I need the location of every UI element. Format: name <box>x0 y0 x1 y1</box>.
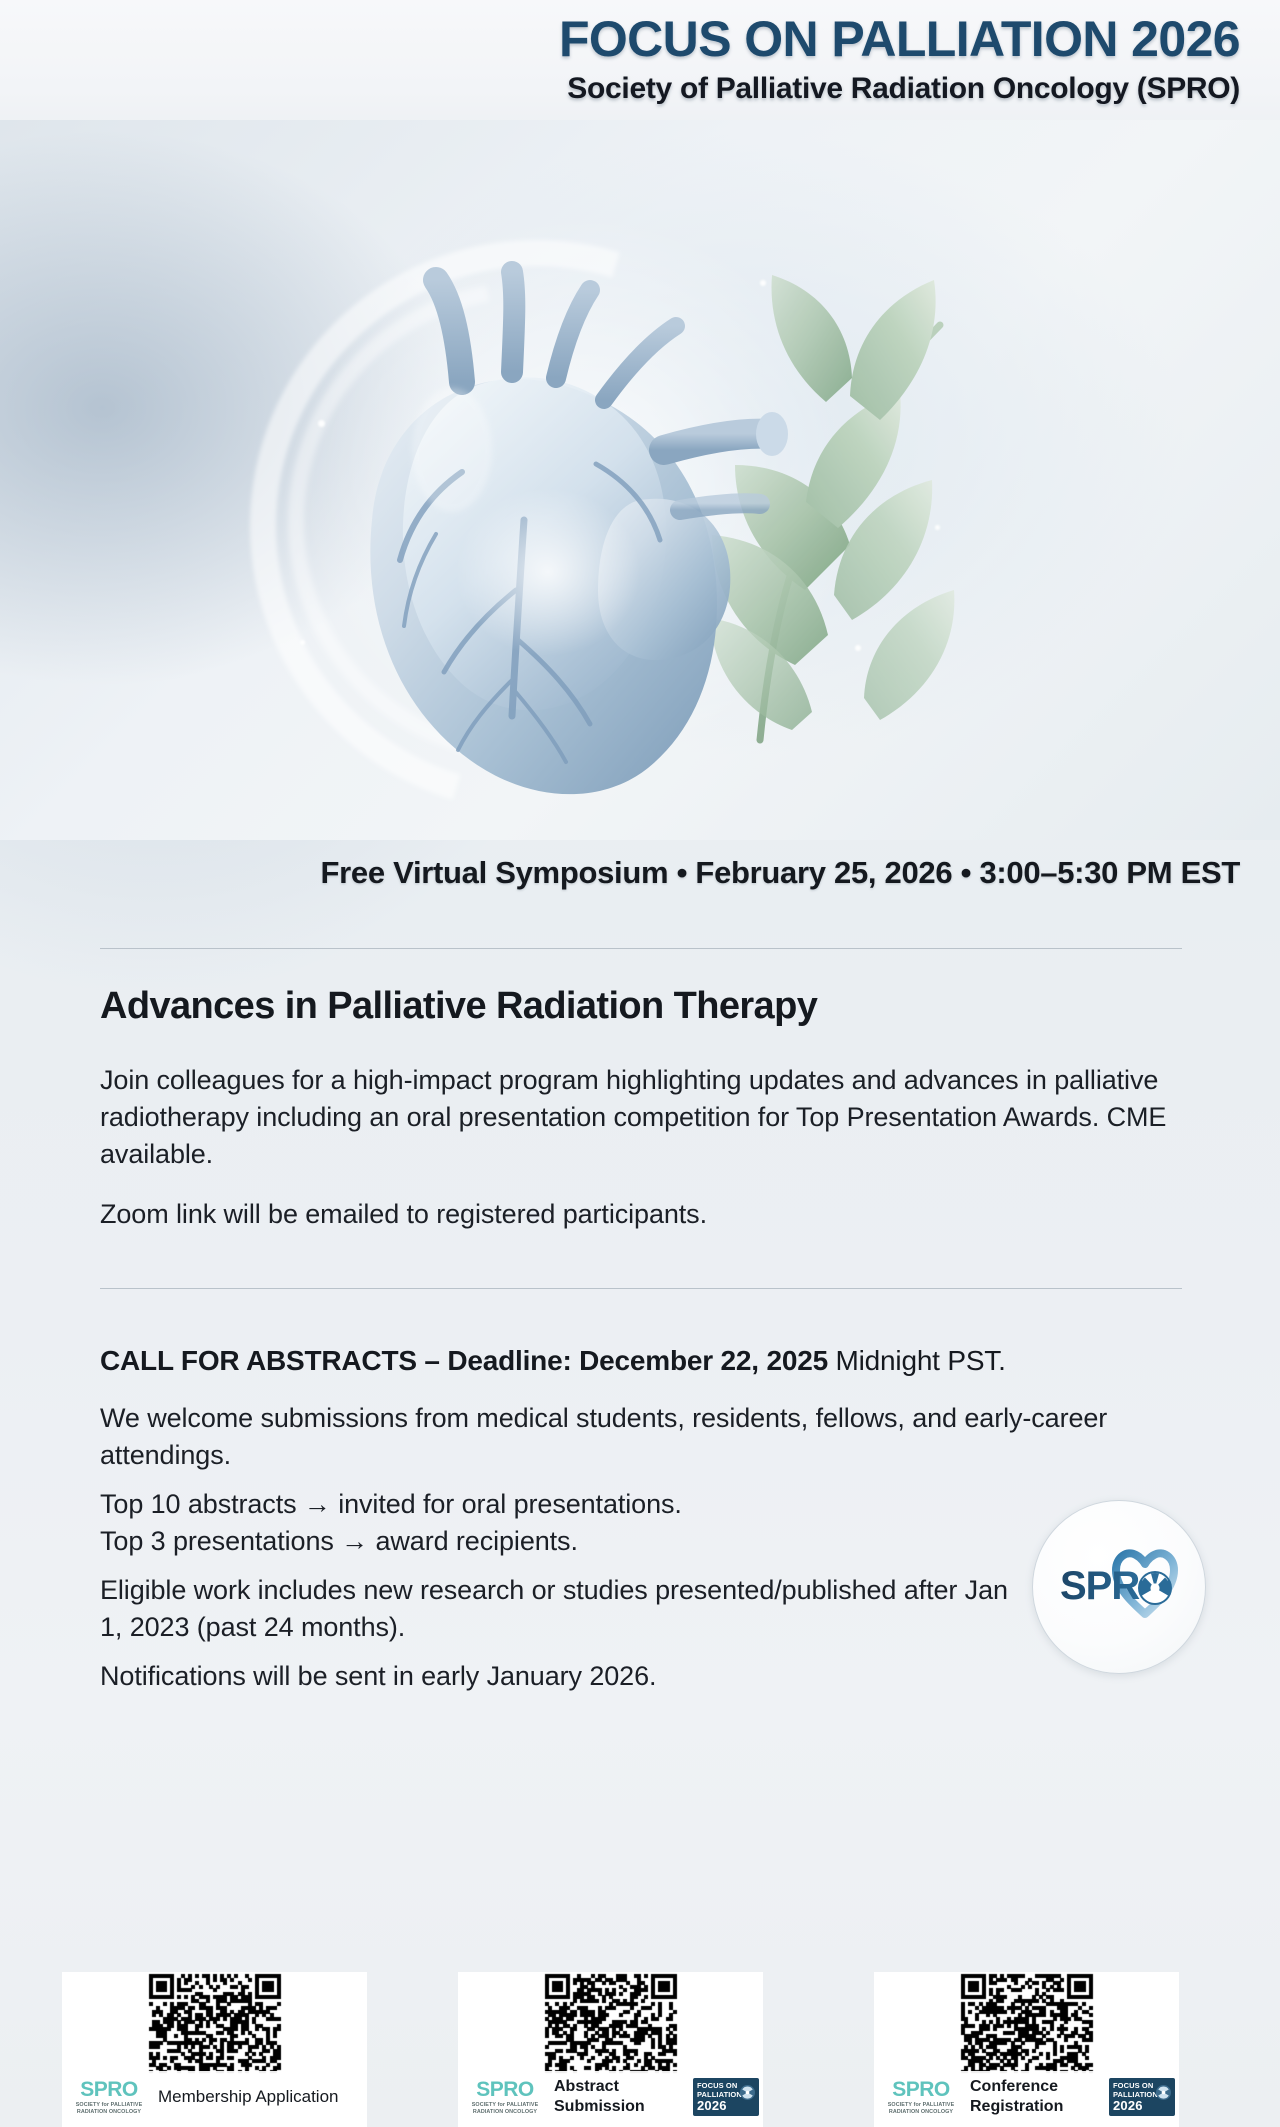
event-dateline: Free Virtual Symposium • February 25, 20… <box>0 855 1240 891</box>
qr-label-text: Conference Registration <box>970 2077 1103 2117</box>
call-for-abstracts-deadline: CALL FOR ABSTRACTS – Deadline: December … <box>100 1345 828 1376</box>
focus-on-palliation-chip: FOCUS ON PALLIATION 2026 <box>693 2078 759 2116</box>
spro-small-logo: SPRO SOCIETY for PALLIATIVE RADIATION ON… <box>462 2079 548 2116</box>
spro-small-wordmark: SPRO <box>462 2079 548 2100</box>
spro-small-wordmark: SPRO <box>66 2079 152 2100</box>
divider-top <box>100 948 1182 949</box>
chip-line-3: 2026 <box>1113 2099 1171 2113</box>
heart-and-leaves-vector <box>0 120 1280 840</box>
spro-small-tagline: SOCIETY for PALLIATIVE RADIATION ONCOLOG… <box>878 2102 964 2116</box>
qr-label-text: Membership Application <box>158 2087 363 2107</box>
chip-line-3: 2026 <box>697 2099 755 2113</box>
divider-bottom <box>100 1288 1182 1289</box>
spro-wordmark: SPR <box>1060 1564 1140 1608</box>
spro-logo-badge: SPR <box>1032 1500 1206 1674</box>
qr-code-strip: SPRO SOCIETY for PALLIATIVE RADIATION ON… <box>0 1972 1280 2127</box>
sparkle-dot <box>318 420 325 427</box>
abstracts-scope-line: Eligible work includes new research or s… <box>100 1572 1030 1646</box>
hero-illustration <box>0 120 1280 840</box>
qr-caption-abstract: SPRO SOCIETY for PALLIATIVE RADIATION ON… <box>458 2071 763 2123</box>
page-title: FOCUS ON PALLIATION 2026 <box>0 14 1240 64</box>
poster-header: FOCUS ON PALLIATION 2026 Society of Pall… <box>0 0 1280 128</box>
spro-small-logo: SPRO SOCIETY for PALLIATIVE RADIATION ON… <box>878 2079 964 2116</box>
program-heading: Advances in Palliative Radiation Therapy <box>100 985 817 1028</box>
spro-small-tagline: SOCIETY for PALLIATIVE RADIATION ONCOLOG… <box>462 2102 548 2116</box>
poster-canvas: FOCUS ON PALLIATION 2026 Society of Pall… <box>0 0 1280 2127</box>
radiation-chip-icon <box>1156 2085 1171 2100</box>
focus-on-palliation-chip: FOCUS ON PALLIATION 2026 <box>1109 2078 1175 2116</box>
program-paragraph-2: Zoom link will be emailed to registered … <box>100 1196 1100 1233</box>
sparkle-dot <box>855 645 861 651</box>
qr-caption-membership: SPRO SOCIETY for PALLIATIVE RADIATION ON… <box>62 2071 367 2123</box>
call-for-abstracts-heading: CALL FOR ABSTRACTS – Deadline: December … <box>100 1345 1006 1377</box>
organization-subtitle: Society of Palliative Radiation Oncology… <box>0 74 1240 104</box>
spro-small-logo: SPRO SOCIETY for PALLIATIVE RADIATION ON… <box>66 2079 152 2116</box>
qr-tile-abstract[interactable]: SPRO SOCIETY for PALLIATIVE RADIATION ON… <box>458 1972 763 2127</box>
qr-label-text: Abstract Submission <box>554 2077 687 2117</box>
sparkle-dot <box>300 640 305 645</box>
program-paragraph-1: Join colleagues for a high-impact progra… <box>100 1062 1190 1173</box>
qr-tile-membership[interactable]: SPRO SOCIETY for PALLIATIVE RADIATION ON… <box>62 1972 367 2127</box>
call-for-abstracts-timezone: Midnight PST. <box>828 1345 1006 1376</box>
abstracts-notification-line: Notifications will be sent in early Janu… <box>100 1658 1000 1695</box>
sparkle-dot <box>935 525 940 530</box>
qr-caption-registration: SPRO SOCIETY for PALLIATIVE RADIATION ON… <box>874 2071 1179 2123</box>
abstracts-eligibility-line: We welcome submissions from medical stud… <box>100 1400 1150 1474</box>
anatomical-heart <box>370 272 788 794</box>
spro-small-tagline: SOCIETY for PALLIATIVE RADIATION ONCOLOG… <box>66 2102 152 2116</box>
sparkle-dot <box>760 280 766 286</box>
radiation-trefoil-icon <box>1138 1571 1172 1605</box>
abstracts-awards-line: Top 10 abstracts → invited for oral pres… <box>100 1486 1000 1560</box>
radiation-chip-icon <box>740 2085 755 2100</box>
spro-heart-radiation-icon: SPR <box>1044 1544 1194 1630</box>
spro-small-wordmark: SPRO <box>878 2079 964 2100</box>
qr-tile-registration[interactable]: SPRO SOCIETY for PALLIATIVE RADIATION ON… <box>874 1972 1179 2127</box>
